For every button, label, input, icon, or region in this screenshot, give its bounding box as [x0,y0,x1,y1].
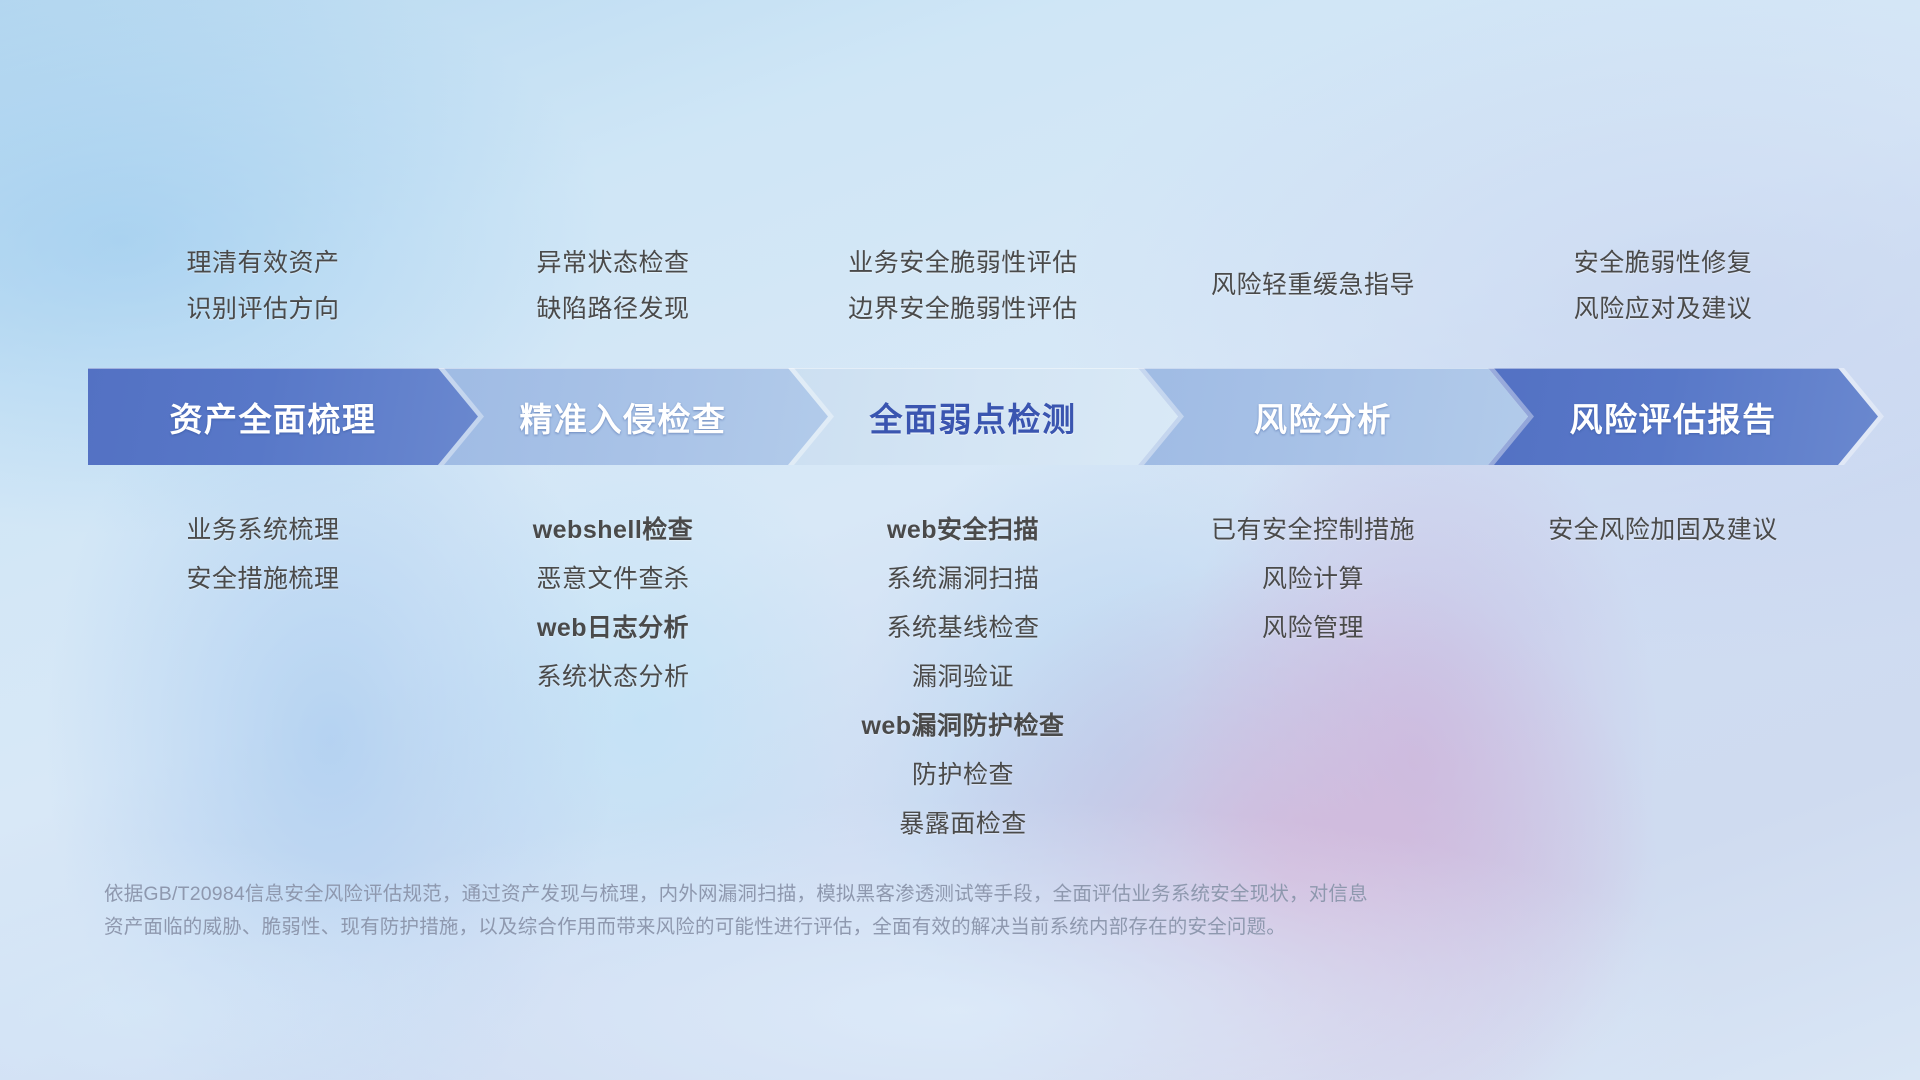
footer-line-2: 资产面临的威胁、脆弱性、现有防护措施，以及综合作用而带来风险的可能性进行评估，全… [104,911,1664,944]
stage-arrow-fill [88,368,478,465]
stage-arrow-fill [788,368,1178,465]
stage-arrow-intrusion-check[interactable]: 精准入侵检查 [438,368,828,465]
footer-line-1: 依据GB/T20984信息安全风险评估规范，通过资产发现与梳理，内外网漏洞扫描，… [104,878,1664,911]
stage-arrow-fill [438,368,828,465]
bottom-label-item: 安全风险加固及建议 [1403,506,1920,555]
bottom-label-item: web漏洞防护检查 [703,702,1223,751]
bottom-label-item: 暴露面检查 [703,800,1223,849]
stage-arrow-fill [1138,368,1528,465]
stage-arrow-weakness-detection[interactable]: 全面弱点检测 [788,368,1178,465]
stage-arrow-fill [1488,368,1878,465]
bottom-label-item: 漏洞验证 [703,653,1223,702]
top-label-item: 安全脆弱性修复 [1403,240,1920,286]
process-flow-diagram: 理清有效资产识别评估方向异常状态检查缺陷路径发现业务安全脆弱性评估边界安全脆弱性… [0,0,1920,1080]
stage-arrow-risk-analysis[interactable]: 风险分析 [1138,368,1528,465]
bottom-label-item: 风险管理 [1053,604,1573,653]
top-labels-risk-report: 安全脆弱性修复风险应对及建议 [1403,240,1920,332]
stage-arrow-banner: 资产全面梳理精准入侵检查全面弱点检测风险分析风险评估报告 [88,368,1838,465]
bottom-labels-risk-report: 安全风险加固及建议 [1403,506,1920,555]
bottom-label-item: 风险计算 [1053,555,1573,604]
stage-arrow-risk-report[interactable]: 风险评估报告 [1488,368,1878,465]
bottom-label-item: 防护检查 [703,751,1223,800]
stage-arrow-asset-inventory[interactable]: 资产全面梳理 [88,368,478,465]
top-label-item: 风险应对及建议 [1403,286,1920,332]
footer-description: 依据GB/T20984信息安全风险评估规范，通过资产发现与梳理，内外网漏洞扫描，… [104,878,1664,944]
